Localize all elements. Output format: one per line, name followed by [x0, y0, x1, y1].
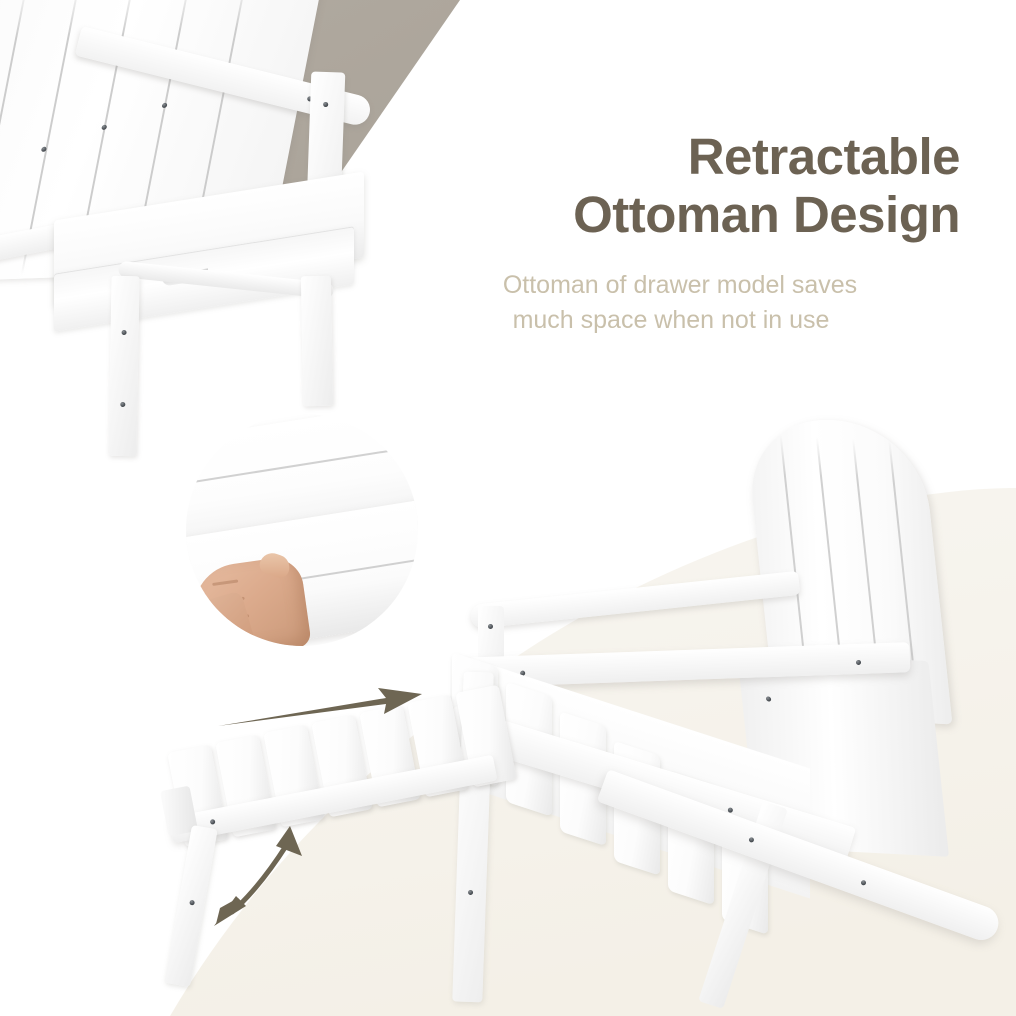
- marketing-image-canvas: Retractable Ottoman Design Ottoman of dr…: [0, 0, 1016, 1016]
- screw-head: [856, 660, 861, 665]
- screw-head: [120, 402, 125, 407]
- subtitle: Ottoman of drawer model saves much space…: [400, 268, 960, 338]
- screw-head: [162, 103, 168, 108]
- screw-head: [210, 819, 216, 825]
- photo-ottoman-extended: [150, 690, 580, 950]
- screw-head: [860, 880, 866, 886]
- main-chair-arm-upper-rail: [470, 571, 801, 629]
- headline: Retractable Ottoman Design: [400, 128, 960, 244]
- screw-head: [748, 837, 754, 843]
- screw-head: [101, 125, 107, 130]
- headline-line-1: Retractable: [688, 128, 960, 185]
- screw-head: [122, 330, 127, 335]
- screw-head: [766, 696, 772, 701]
- screw-head: [323, 102, 328, 107]
- photo-chair-closed-drawer: [0, 0, 374, 446]
- chair-rear-leg: [301, 276, 333, 407]
- copy-block: Retractable Ottoman Design Ottoman of dr…: [400, 128, 960, 338]
- headline-line-2: Ottoman Design: [400, 186, 960, 244]
- subtitle-line-2: much space when not in use: [400, 303, 960, 338]
- subtitle-line-1: Ottoman of drawer model saves: [400, 268, 960, 303]
- screw-head: [189, 900, 195, 906]
- screw-head: [488, 624, 493, 629]
